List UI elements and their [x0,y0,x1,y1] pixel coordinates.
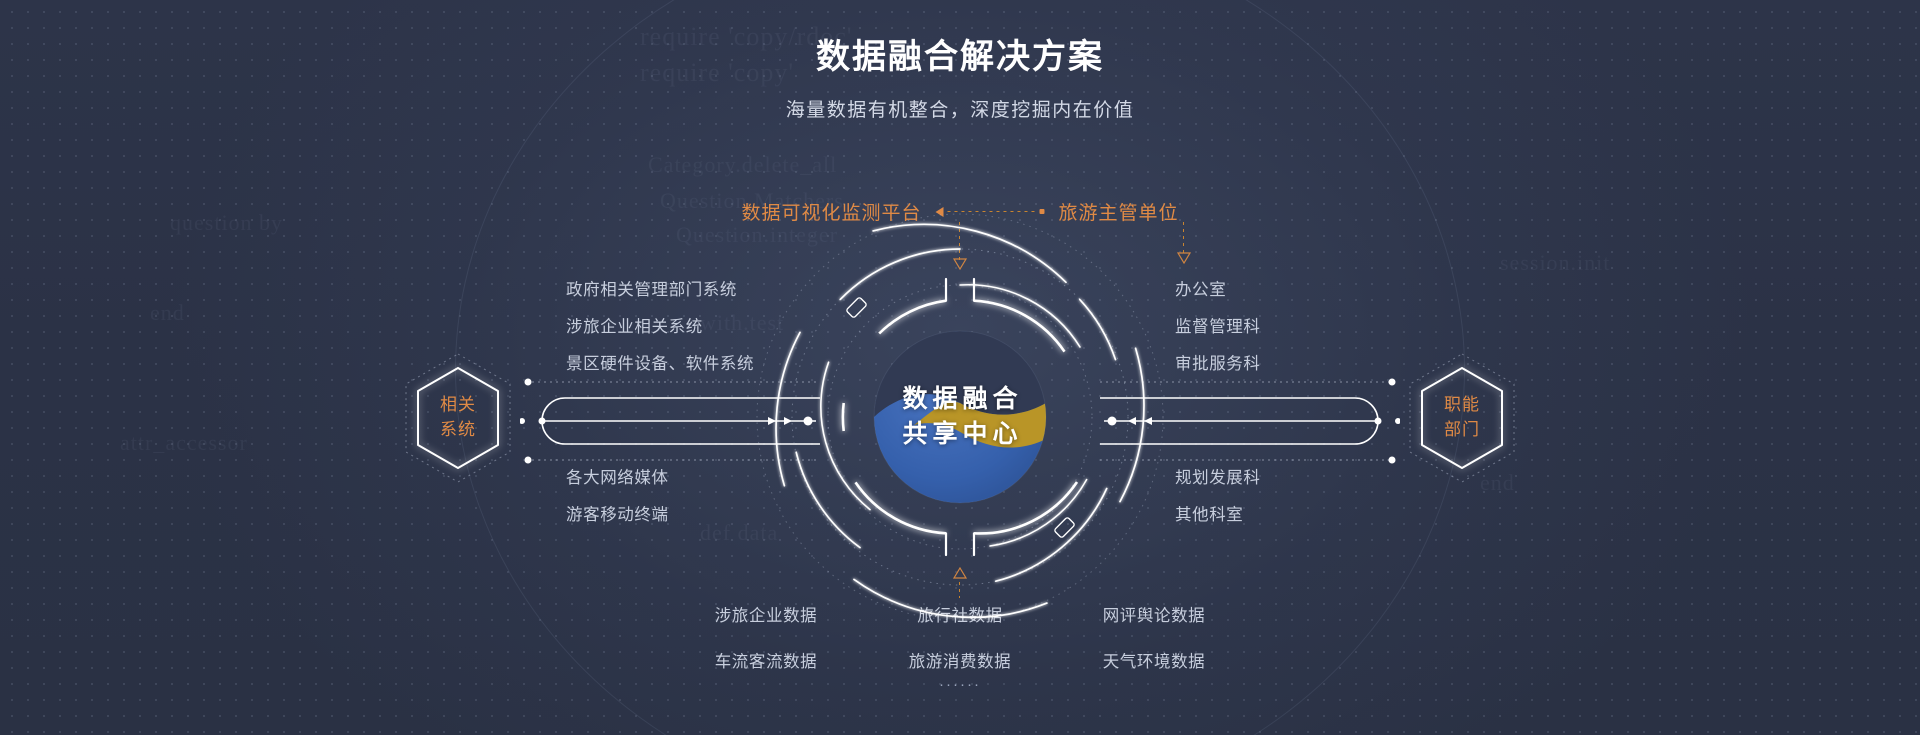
list-item[interactable]: 监督管理科 [1175,313,1261,337]
list-item[interactable]: 景区硬件设备、软件系统 [566,350,754,374]
left-top-source-list: 政府相关管理部门系统 涉旅企业相关系统 景区硬件设备、软件系统 [566,276,754,374]
list-item[interactable]: 涉旅企业相关系统 [566,313,754,337]
hexagon-left-line1: 相关 [440,393,476,418]
list-item[interactable]: 规划发展科 [1175,464,1261,488]
list-item[interactable]: 各大网络媒体 [566,464,669,488]
triangle-down-outline-icon-right [1177,252,1191,264]
infographic-canvas: require 'copy/rdoc' require 'copy' Categ… [0,0,1920,735]
grid-item[interactable]: 车流客流数据 [691,648,841,672]
grid-item[interactable]: 天气环境数据 [1079,648,1229,672]
center-hub-graphic: 数据融合 共享中心 [750,207,1170,627]
right-top-department-list: 办公室 监督管理科 审批服务科 [1175,276,1261,374]
hexagon-left-line2: 系统 [440,418,476,443]
grid-item[interactable]: 旅游消费数据 [885,648,1035,672]
header: 数据融合解决方案 海量数据有机整合，深度挖掘内在价值 [0,36,1920,122]
list-item[interactable]: 审批服务科 [1175,350,1261,374]
hexagon-right-line2: 部门 [1444,418,1480,443]
hexagon-related-systems[interactable]: 相关 系统 [398,350,518,486]
code-line: attr_accessor [120,430,248,456]
list-item[interactable]: 办公室 [1175,276,1261,300]
list-item[interactable]: 其他科室 [1175,501,1261,525]
hexagon-left-label: 相关 系统 [398,350,518,486]
hexagon-functional-departments[interactable]: 职能 部门 [1402,350,1522,486]
code-line: session.init [1500,250,1610,276]
right-bottom-department-list: 规划发展科 其他科室 [1175,464,1261,525]
data-sphere [874,325,1046,503]
page-subtitle: 海量数据有机整合，深度挖掘内在价值 [0,95,1920,122]
left-bottom-source-list: 各大网络媒体 游客移动终端 [566,464,669,525]
hexagon-right-label: 职能 部门 [1402,350,1522,486]
code-line: end [150,300,185,326]
list-item[interactable]: 政府相关管理部门系统 [566,276,754,300]
code-line: Category.delete_all [648,152,837,178]
code-line: question by [170,210,283,236]
list-item[interactable]: 游客移动终端 [566,501,669,525]
bottom-ellipsis: ······ [939,676,981,693]
vertical-dotted-line-top-right [1183,222,1184,254]
center-rings [750,207,1170,627]
hexagon-right-line1: 职能 [1444,393,1480,418]
page-title: 数据融合解决方案 [0,36,1920,79]
